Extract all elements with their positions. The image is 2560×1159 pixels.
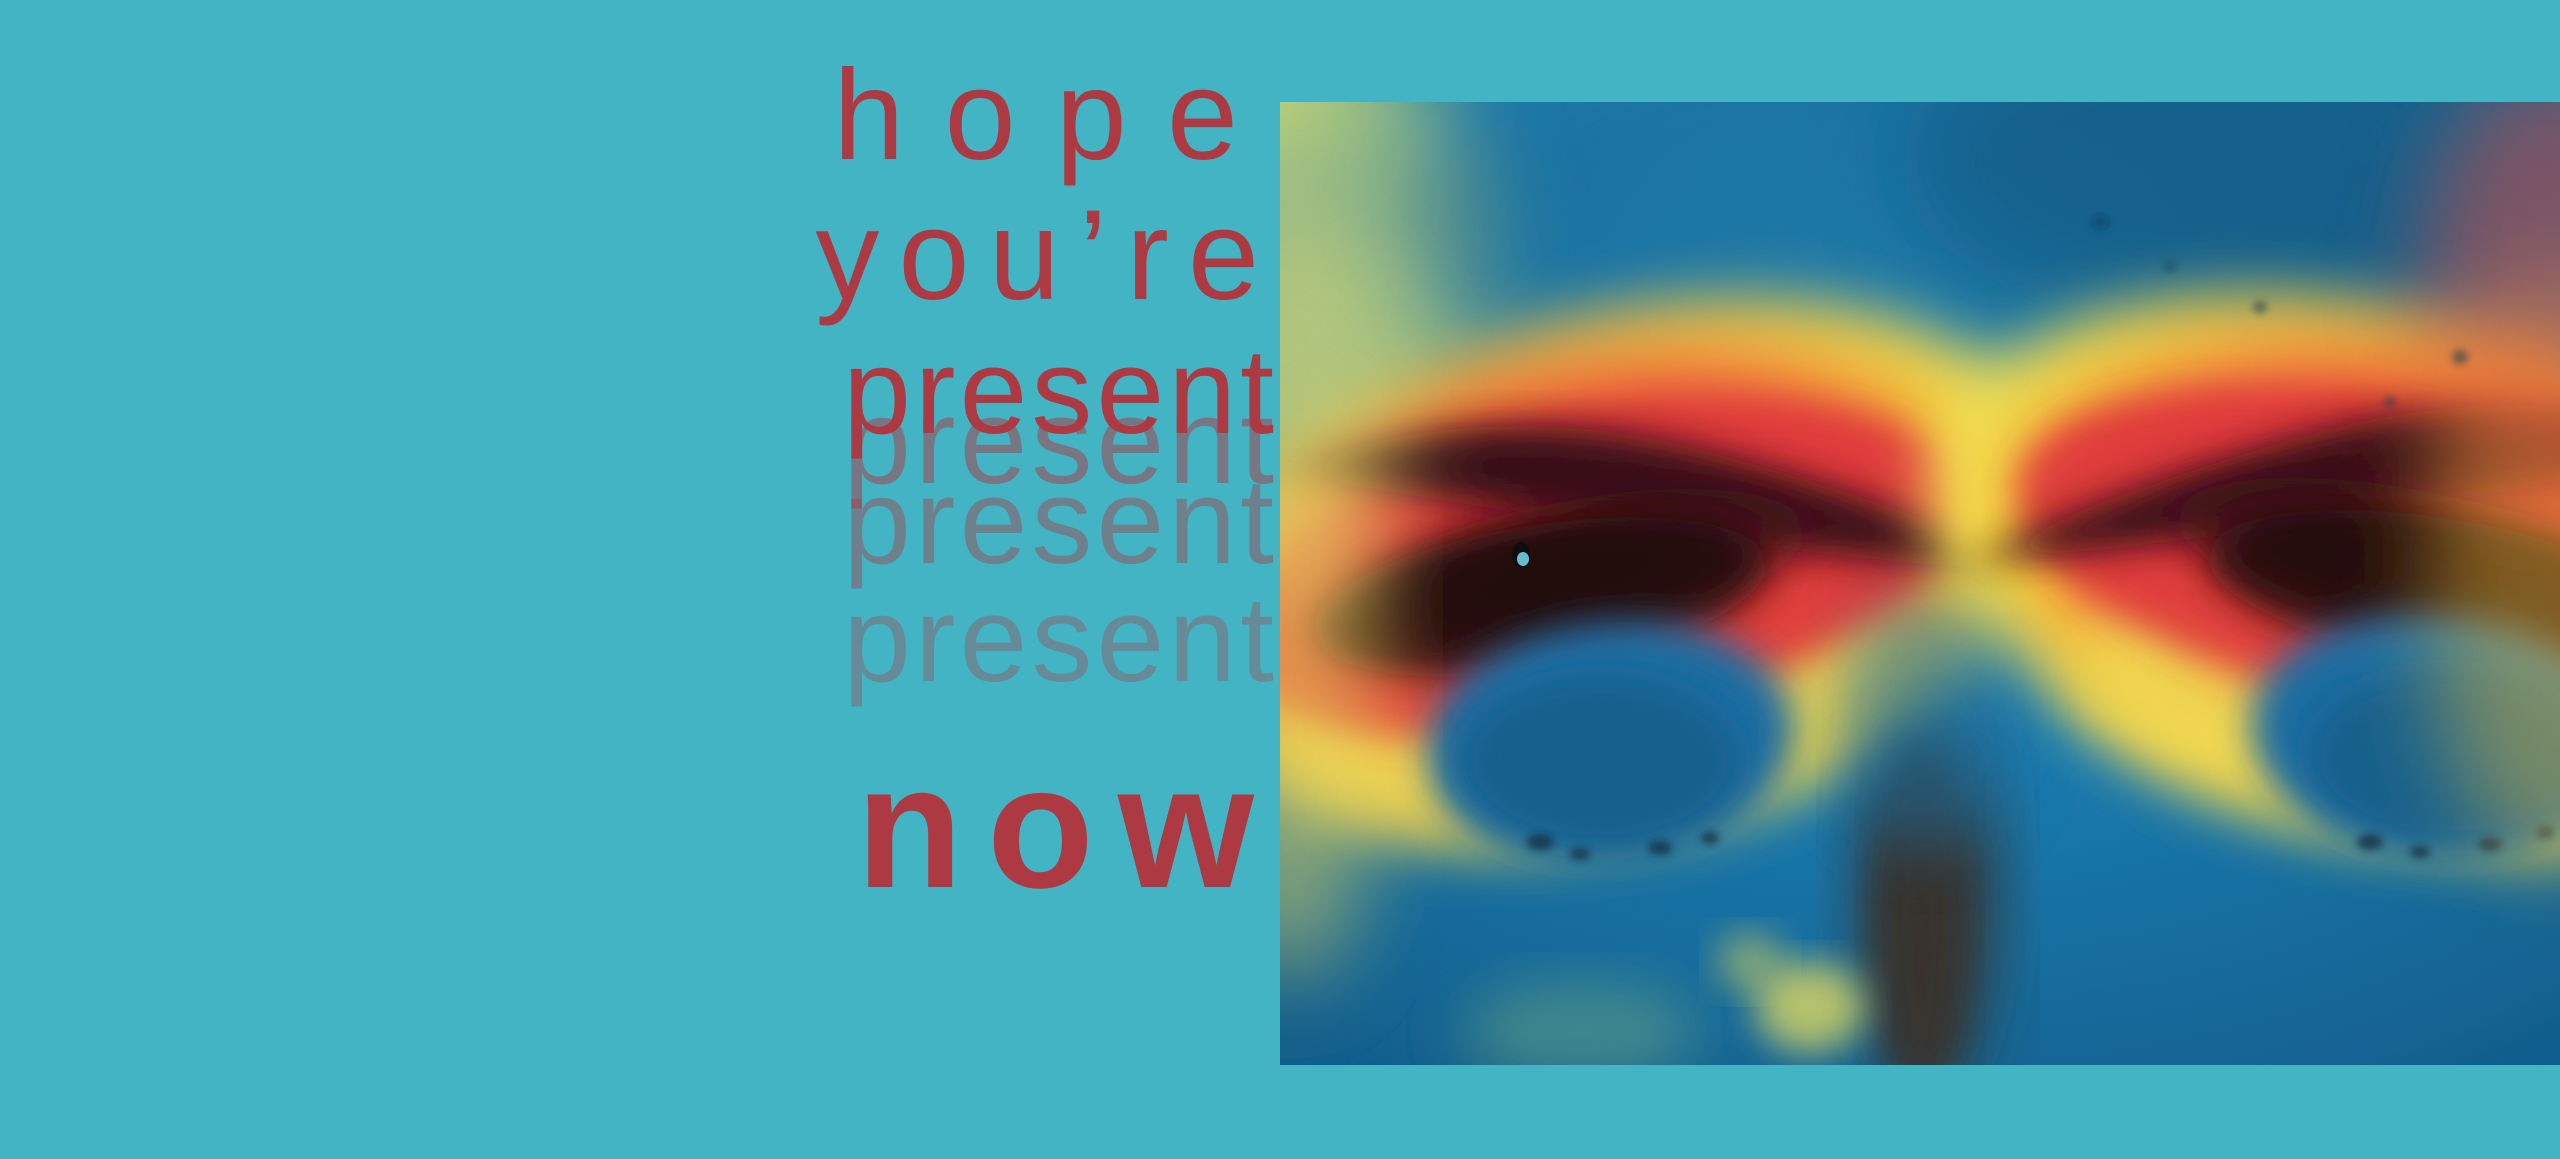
poster-line-present-1: present [0,330,1278,452]
poster-text-block: hope you’re present present present pres… [0,0,1278,1159]
poster-canvas: hope you’re present present present pres… [0,0,2560,1159]
poster-line-hope: hope [0,52,1278,180]
thermal-eyes-illustration [1280,102,2560,1065]
poster-line-youre: you’re [0,192,1278,320]
poster-line-now: now [0,740,1278,915]
poster-line-present-4: present [0,578,1278,700]
thermal-eyes-photo [1280,102,2560,1065]
